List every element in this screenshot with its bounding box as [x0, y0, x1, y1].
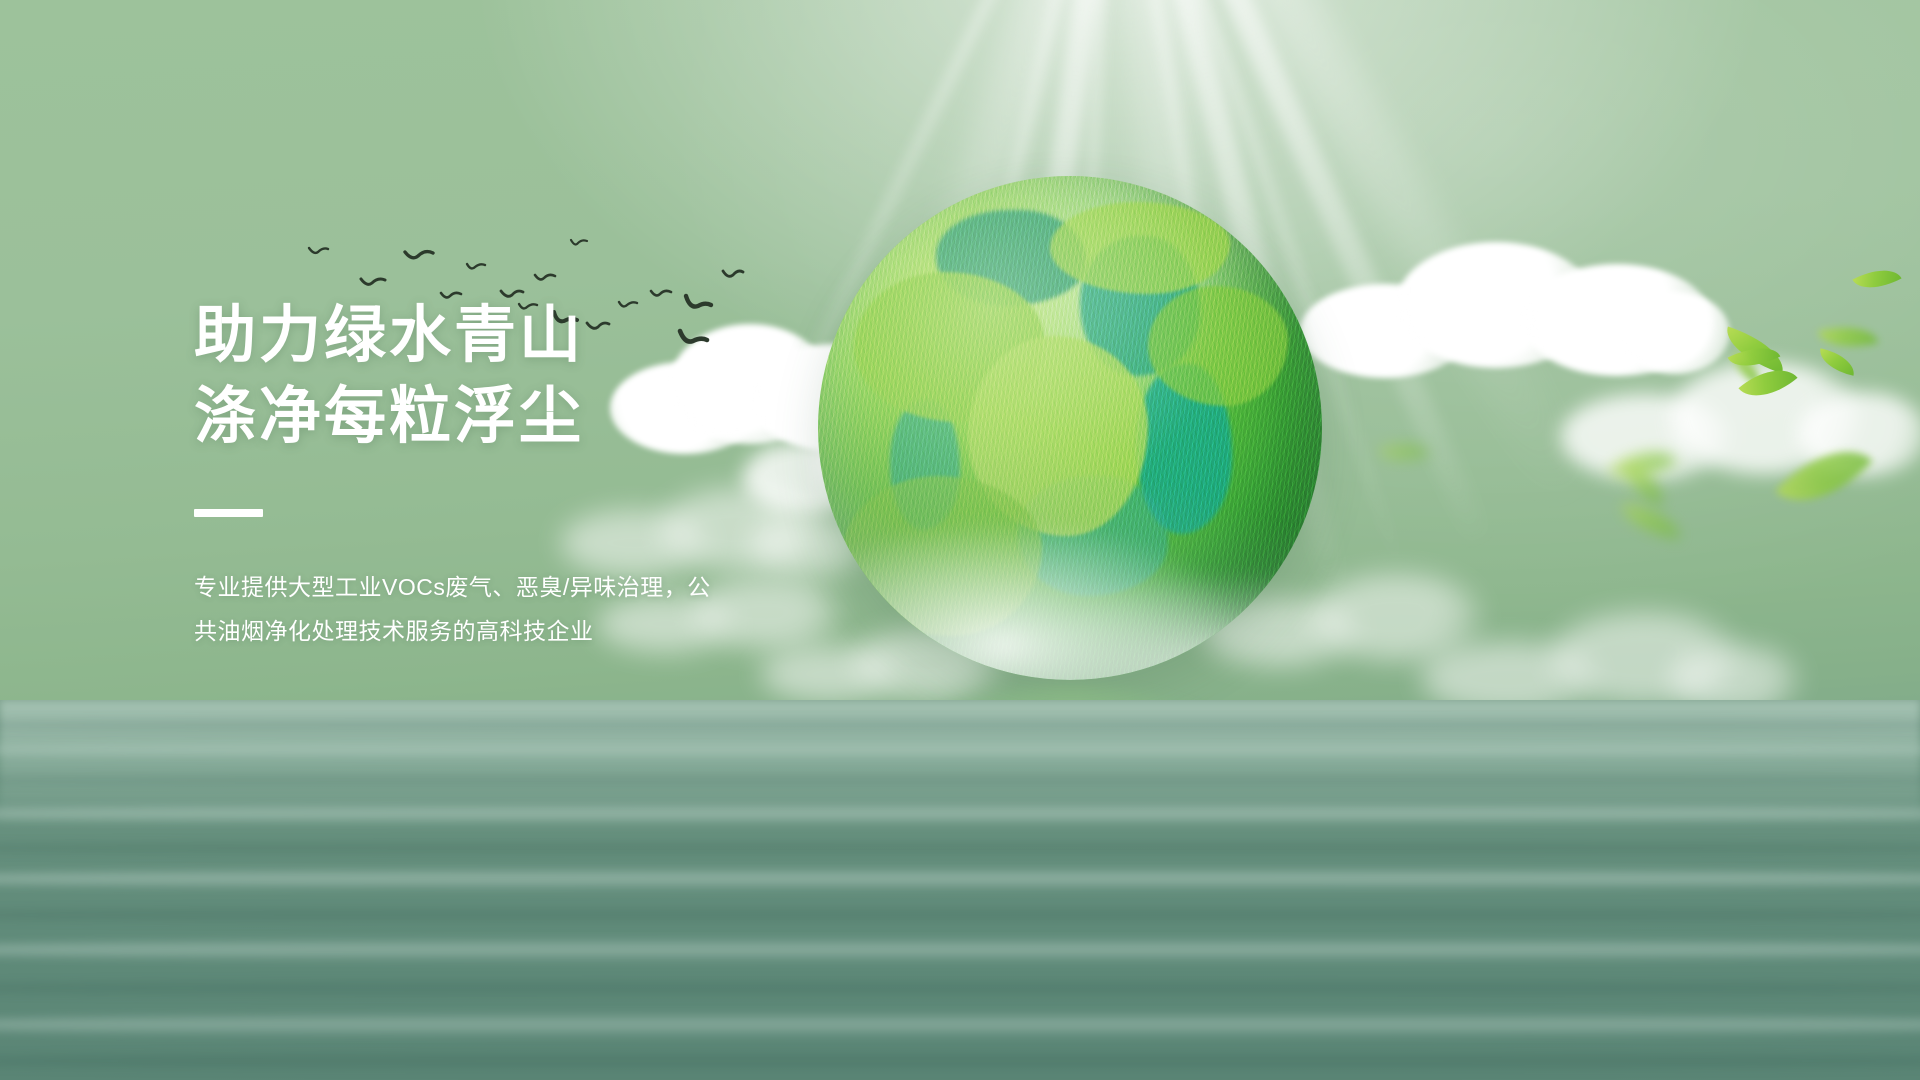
floating-leaf	[1852, 259, 1901, 299]
hero-copy: 助力绿水青山 涤净每粒浮尘 专业提供大型工业VOCs废气、恶臭/异味治理，公共油…	[194, 300, 914, 654]
flying-bird-icon	[404, 248, 434, 265]
floating-leaf	[1377, 433, 1430, 472]
flying-bird-icon	[466, 262, 486, 274]
flying-bird-icon	[722, 268, 744, 282]
headline-line-1: 助力绿水青山	[194, 300, 914, 371]
floating-leaf	[1608, 434, 1678, 497]
water-surface	[0, 700, 1920, 1080]
headline-divider	[194, 509, 263, 517]
hero-subtitle: 专业提供大型工业VOCs废气、恶臭/异味治理，公共油烟净化处理技术服务的高科技企…	[194, 565, 724, 655]
flying-bird-icon	[570, 238, 588, 250]
floating-leaf	[1619, 464, 1672, 506]
water-ripple	[0, 718, 1920, 732]
water-ripple	[0, 978, 1920, 998]
hero-banner: 助力绿水青山 涤净每粒浮尘 专业提供大型工业VOCs废气、恶臭/异味治理，公共油…	[0, 0, 1920, 1080]
floating-leaf	[1818, 318, 1879, 357]
flying-bird-icon	[360, 276, 386, 291]
floating-leaf	[1728, 337, 1781, 378]
floating-leaf	[1738, 355, 1797, 411]
floating-leaf	[1775, 426, 1873, 526]
floating-leaf	[1719, 326, 1790, 373]
flying-bird-icon	[308, 246, 330, 260]
water-ripple	[0, 804, 1920, 824]
water-ripple	[0, 938, 1920, 962]
cloud	[1560, 352, 1920, 482]
floating-leaf	[1618, 503, 1684, 539]
headline-line-2: 涤净每粒浮尘	[194, 381, 914, 452]
cloud	[1300, 228, 1720, 388]
water-ripple	[0, 906, 1920, 924]
floating-leaf	[1726, 351, 1768, 386]
flying-bird-icon	[534, 272, 556, 285]
water-ripple	[0, 1012, 1920, 1038]
water-ripple	[0, 868, 1920, 890]
water-ripple	[0, 774, 1920, 786]
water-ripple	[0, 1050, 1920, 1072]
water-ripple	[0, 840, 1920, 856]
water-ripple	[0, 742, 1920, 758]
floating-leaf	[1816, 348, 1857, 375]
